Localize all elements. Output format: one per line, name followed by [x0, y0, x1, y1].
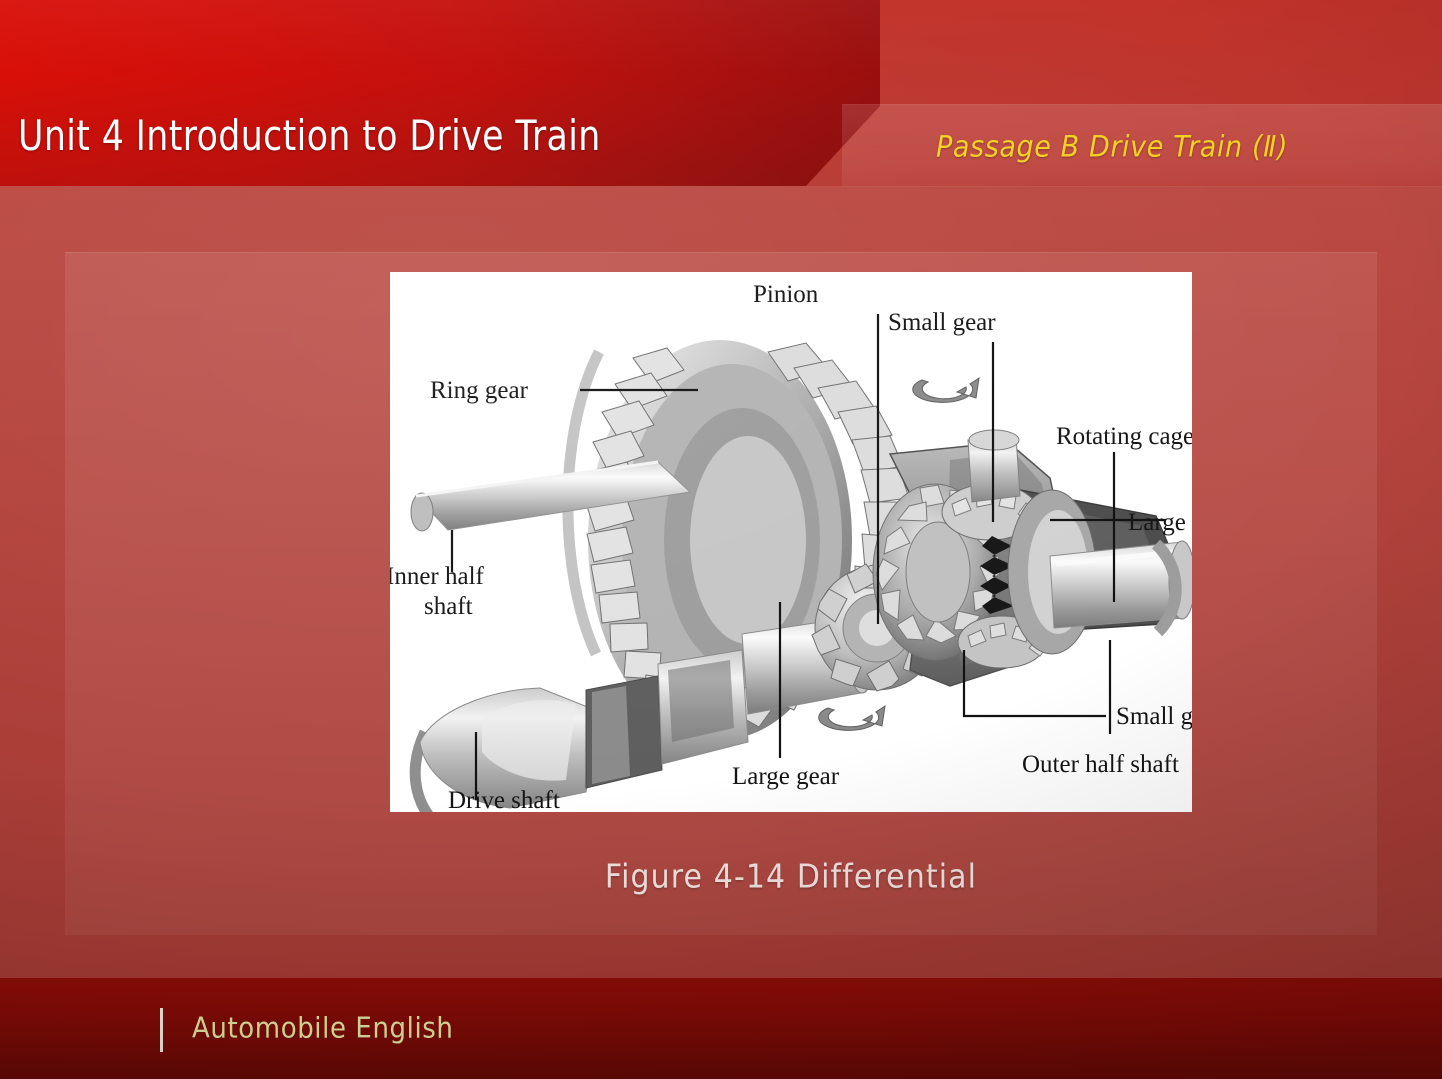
label-drive-shaft: Drive shaft: [448, 787, 560, 812]
figure-image: Pinion Ring gear: [390, 272, 1192, 812]
label-pinion: Pinion: [753, 281, 819, 308]
footer-accent-bar: [160, 1008, 163, 1052]
label-small-gear-bottom: Small gear: [1116, 703, 1192, 730]
page-title: Unit 4 Introduction to Drive Train: [18, 112, 601, 160]
differential-diagram: Pinion Ring gear: [390, 272, 1192, 812]
label-small-gear-top: Small gear: [888, 309, 996, 336]
label-outer-half-shaft: Outer half shaft: [1022, 751, 1179, 778]
label-inner-half-shaft-line1: Inner half: [390, 563, 485, 590]
label-rotating-cage: Rotating cage: [1056, 423, 1192, 450]
label-large-gear-right: Large gear: [1128, 509, 1192, 536]
outer-half-shaft-graphic: [1050, 541, 1192, 632]
slide-canvas: Unit 4 Introduction to Drive Train Passa…: [0, 0, 1442, 1079]
label-ring-gear: Ring gear: [430, 377, 529, 404]
label-inner-half-shaft-line2: shaft: [424, 593, 473, 620]
section-title: Passage B Drive Train (Ⅱ): [936, 130, 1288, 164]
footer-label: Automobile English: [192, 1012, 454, 1045]
label-large-gear-bottom: Large gear: [732, 763, 840, 790]
figure-caption: Figure 4-14 Differential: [390, 858, 1192, 897]
